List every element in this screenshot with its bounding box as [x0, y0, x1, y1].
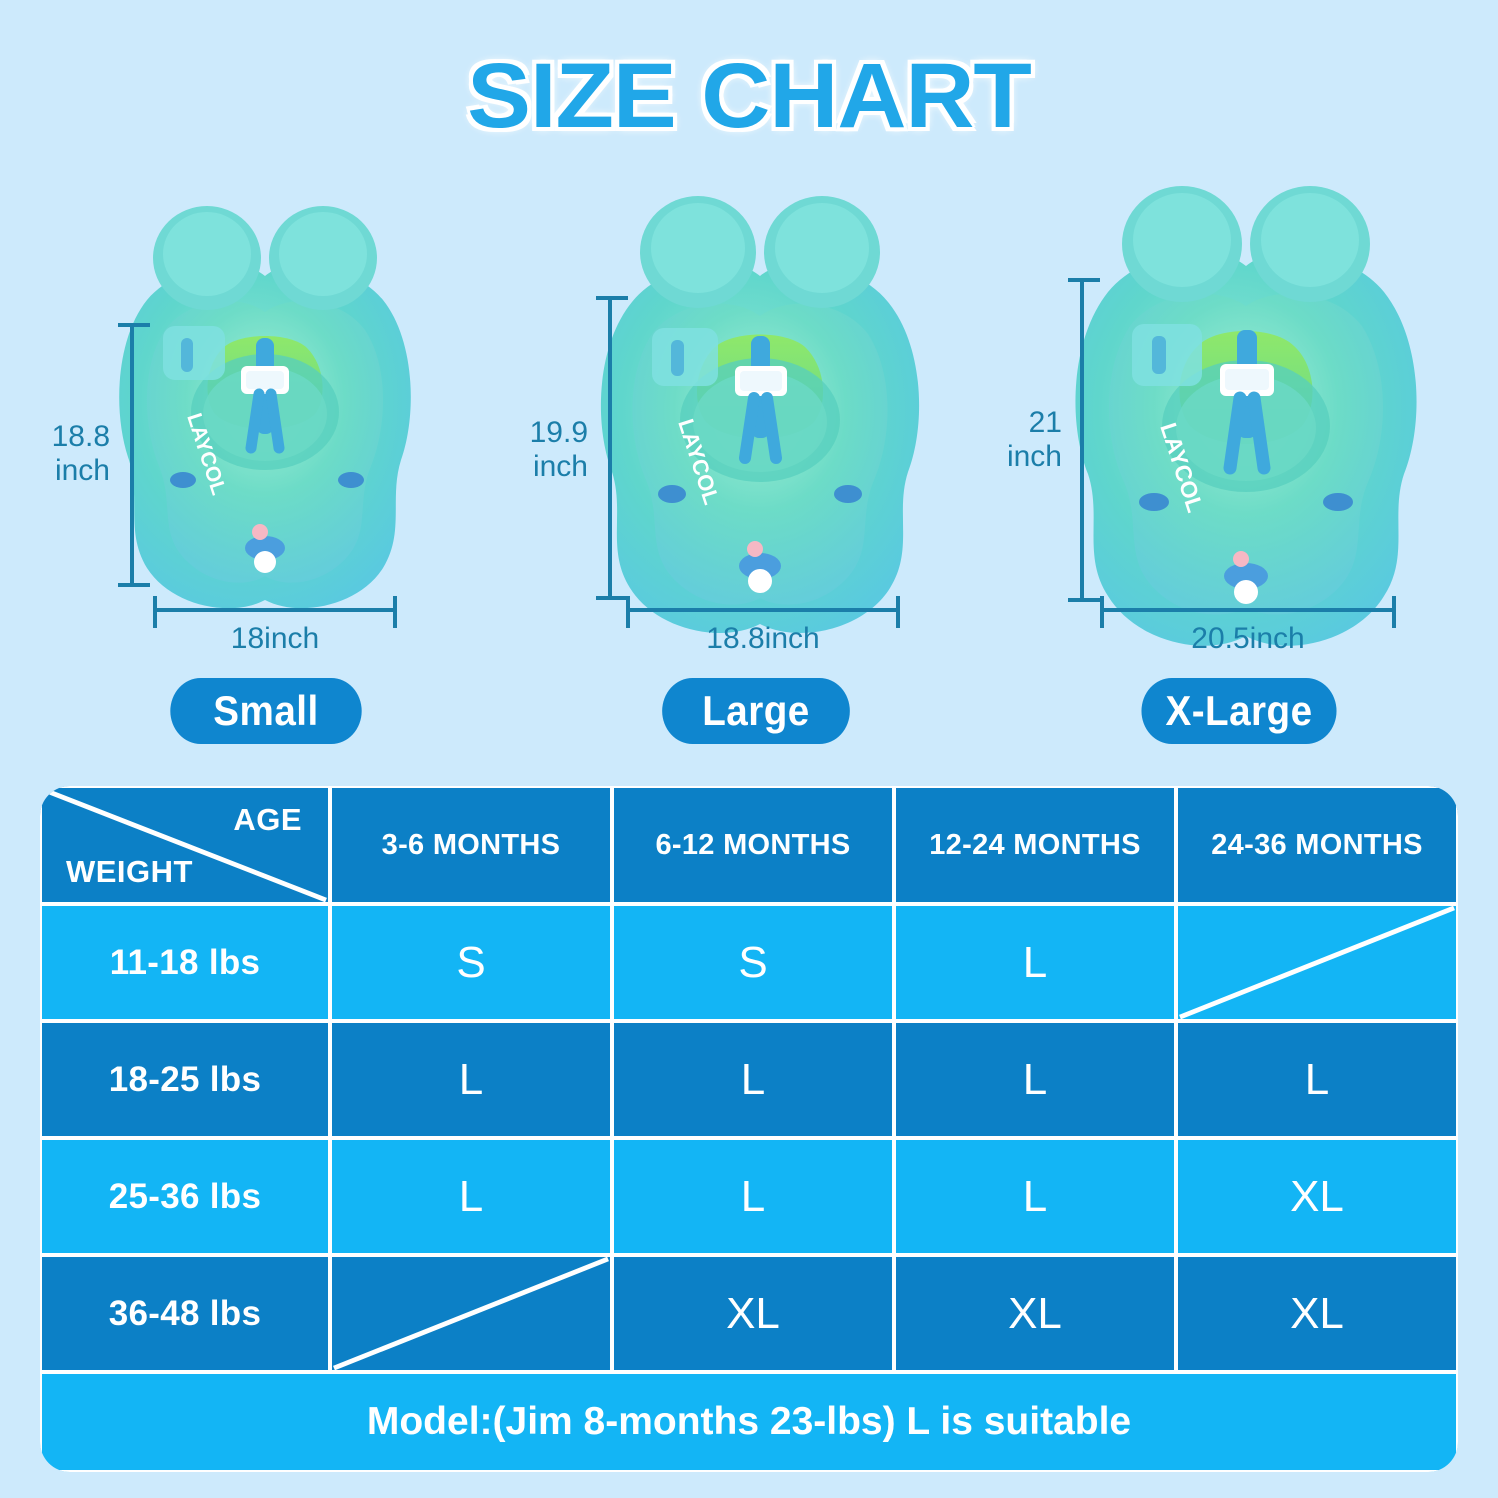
- not-available-diagonal-icon: [332, 1257, 610, 1370]
- page-title: SIZE CHART: [467, 44, 1031, 149]
- height-dimension-label-small: 18.8 inch: [0, 420, 110, 488]
- size-pill-small[interactable]: Small: [170, 678, 361, 744]
- height-dimension-line-large: [608, 298, 612, 598]
- cell-r0-c3-not-available: [1176, 904, 1458, 1021]
- not-available-diagonal-icon: [1178, 906, 1456, 1019]
- size-value: XL: [1290, 1172, 1344, 1222]
- column-label: 6-12 MONTHS: [655, 829, 850, 862]
- height-unit: inch: [55, 454, 110, 487]
- row-weight-label-1: 18-25 lbs: [40, 1021, 330, 1138]
- table-row: 25-36 lbs L L L XL: [40, 1138, 1458, 1255]
- cell-r0-c1: S: [612, 904, 894, 1021]
- baby-float-image-small: LAYCOL: [55, 180, 475, 650]
- weight-label: 18-25 lbs: [109, 1060, 262, 1100]
- weight-label: 11-18 lbs: [110, 943, 261, 983]
- table-col-header-3: 24-36 MONTHS: [1176, 786, 1458, 904]
- width-dimension-line-large: [628, 608, 898, 612]
- cell-r2-c2: L: [894, 1138, 1176, 1255]
- cell-r3-c1: XL: [612, 1255, 894, 1372]
- size-value: XL: [726, 1289, 780, 1339]
- height-value: 18.8: [52, 420, 110, 453]
- product-gallery: LAYCOL 18.8 inch 18inch: [0, 180, 1498, 760]
- table-col-header-0: 3-6 MONTHS: [330, 786, 612, 904]
- height-unit: inch: [1007, 440, 1062, 473]
- cell-r1-c1: L: [612, 1021, 894, 1138]
- cell-r2-c1: L: [612, 1138, 894, 1255]
- table-header-row: AGE WEIGHT 3-6 MONTHS 6-12 MONTHS 12-24 …: [40, 786, 1458, 904]
- row-weight-label-3: 36-48 lbs: [40, 1255, 330, 1372]
- size-value: L: [741, 1055, 765, 1105]
- width-dimension-line-xlarge: [1102, 608, 1394, 612]
- row-weight-label-0: 11-18 lbs: [40, 904, 330, 1021]
- size-value: L: [459, 1055, 483, 1105]
- size-value: S: [456, 938, 485, 988]
- size-table: AGE WEIGHT 3-6 MONTHS 6-12 MONTHS 12-24 …: [40, 786, 1458, 1472]
- cell-r3-c0-not-available: [330, 1255, 612, 1372]
- weight-label: 36-48 lbs: [109, 1294, 262, 1334]
- corner-age-label: AGE: [233, 802, 302, 838]
- height-dimension-line-xlarge: [1080, 280, 1084, 600]
- size-value: L: [1023, 938, 1047, 988]
- cell-r3-c3: XL: [1176, 1255, 1458, 1372]
- cell-r2-c3: XL: [1176, 1138, 1458, 1255]
- product-panel-small: LAYCOL 18.8 inch 18inch: [55, 180, 475, 760]
- table-row: 11-18 lbs S S L: [40, 904, 1458, 1021]
- height-value: 19.9: [530, 416, 588, 449]
- weight-label: 25-36 lbs: [109, 1177, 262, 1217]
- column-label: 3-6 MONTHS: [382, 829, 561, 862]
- table-footer-row: Model:(Jim 8-months 23-lbs) L is suitabl…: [40, 1372, 1458, 1472]
- size-value: XL: [1008, 1289, 1062, 1339]
- size-value: L: [1305, 1055, 1329, 1105]
- row-weight-label-2: 25-36 lbs: [40, 1138, 330, 1255]
- size-value: L: [1023, 1055, 1047, 1105]
- column-label: 24-36 MONTHS: [1211, 829, 1423, 862]
- size-value: L: [741, 1172, 765, 1222]
- cell-r0-c2: L: [894, 904, 1176, 1021]
- table-col-header-2: 12-24 MONTHS: [894, 786, 1176, 904]
- height-dimension-label-large: 19.9 inch: [468, 416, 588, 484]
- corner-weight-label: WEIGHT: [66, 854, 193, 890]
- page-header: SIZE CHART: [0, 44, 1498, 149]
- table-row: 18-25 lbs L L L L: [40, 1021, 1458, 1138]
- width-dimension-label-xlarge: 20.5inch: [1102, 622, 1394, 656]
- size-value: L: [459, 1172, 483, 1222]
- baby-float-image-xlarge: LAYCOL: [1020, 180, 1470, 680]
- table-row: 36-48 lbs XL XL XL: [40, 1255, 1458, 1372]
- product-panel-large: LAYCOL 19.9 inch 18.8inch: [540, 180, 980, 760]
- height-dimension-line-small: [130, 325, 134, 585]
- height-dimension-label-xlarge: 21 inch: [942, 406, 1062, 474]
- cell-r1-c0: L: [330, 1021, 612, 1138]
- size-pill-large[interactable]: Large: [662, 678, 850, 744]
- model-note: Model:(Jim 8-months 23-lbs) L is suitabl…: [40, 1372, 1458, 1472]
- cell-r3-c2: XL: [894, 1255, 1176, 1372]
- height-value: 21: [1029, 406, 1062, 439]
- table-col-header-1: 6-12 MONTHS: [612, 786, 894, 904]
- cell-r1-c2: L: [894, 1021, 1176, 1138]
- size-pill-xlarge[interactable]: X-Large: [1141, 678, 1336, 744]
- width-dimension-label-small: 18inch: [155, 622, 395, 656]
- size-value: L: [1023, 1172, 1047, 1222]
- cell-r1-c3: L: [1176, 1021, 1458, 1138]
- product-panel-xlarge: LAYCOL 21 inch 20.5inch: [1020, 180, 1470, 760]
- size-value: XL: [1290, 1289, 1344, 1339]
- cell-r0-c0: S: [330, 904, 612, 1021]
- column-label: 12-24 MONTHS: [929, 829, 1141, 862]
- height-unit: inch: [533, 450, 588, 483]
- cell-r2-c0: L: [330, 1138, 612, 1255]
- table-corner-cell: AGE WEIGHT: [40, 786, 330, 904]
- width-dimension-line-small: [155, 608, 395, 612]
- width-dimension-label-large: 18.8inch: [628, 622, 898, 656]
- size-value: S: [738, 938, 767, 988]
